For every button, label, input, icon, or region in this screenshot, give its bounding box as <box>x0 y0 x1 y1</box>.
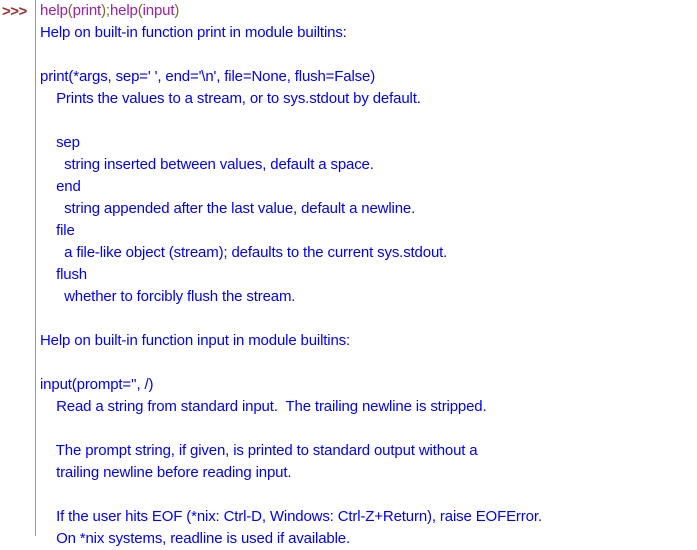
prompt-gutter: >>> <box>0 0 35 536</box>
output-line: end <box>40 176 697 198</box>
output-line: Prints the values to a stream, or to sys… <box>40 88 697 110</box>
output-line: On *nix systems, readline is used if ava… <box>40 528 697 550</box>
shell-output-column[interactable]: help(print);help(input) Help on built-in… <box>40 0 697 536</box>
python-shell-window[interactable]: >>> help(print);help(input) Help on buil… <box>0 0 697 536</box>
output-line: string inserted between values, default … <box>40 154 697 176</box>
output-line: a file-like object (stream); defaults to… <box>40 242 697 264</box>
output-line: input(prompt='', /) <box>40 374 697 396</box>
output-line: Help on built-in function input in modul… <box>40 330 697 352</box>
shell-input-line[interactable]: help(print);help(input) <box>40 0 697 22</box>
source-token-builtin-0: help <box>40 2 68 19</box>
output-line: If the user hits EOF (*nix: Ctrl-D, Wind… <box>40 506 697 528</box>
output-line: flush <box>40 264 697 286</box>
source-token-builtin-7: input <box>143 2 175 19</box>
prompt-symbol: >>> <box>2 1 27 23</box>
output-line: sep <box>40 132 697 154</box>
output-blank-line <box>40 110 697 132</box>
output-line: whether to forcibly flush the stream. <box>40 286 697 308</box>
shell-output-body: Help on built-in function print in modul… <box>40 22 697 550</box>
output-line: trailing newline before reading input. <box>40 462 697 484</box>
output-blank-line <box>40 44 697 66</box>
output-blank-line <box>40 352 697 374</box>
source-token-builtin-2: print <box>73 2 101 19</box>
output-line: The prompt string, if given, is printed … <box>40 440 697 462</box>
output-line: Help on built-in function print in modul… <box>40 22 697 44</box>
source-token-builtin-5: help <box>110 2 138 19</box>
gutter-divider <box>35 0 36 536</box>
output-line: print(*args, sep=' ', end='\n', file=Non… <box>40 66 697 88</box>
output-line: file <box>40 220 697 242</box>
output-blank-line <box>40 418 697 440</box>
output-line: string appended after the last value, de… <box>40 198 697 220</box>
output-line: Read a string from standard input. The t… <box>40 396 697 418</box>
source-token-punct-8: ) <box>174 2 179 19</box>
output-blank-line <box>40 484 697 506</box>
output-blank-line <box>40 308 697 330</box>
